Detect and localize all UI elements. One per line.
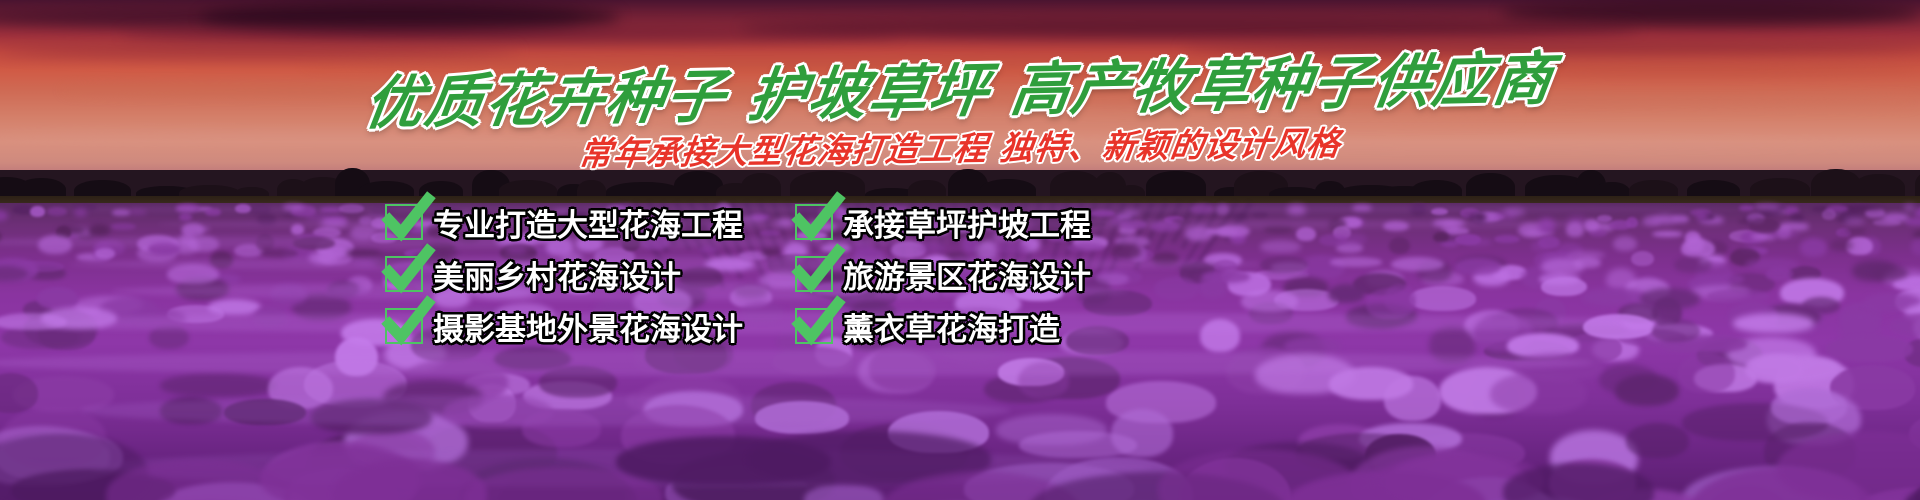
lavender-bush <box>1678 353 1735 393</box>
lavender-bush <box>1198 276 1227 298</box>
lavender-bush <box>110 223 135 230</box>
lavender-bush <box>179 213 192 221</box>
lavender-bush <box>1391 257 1445 271</box>
lavender-bush <box>1260 240 1301 253</box>
checklist-item-label: 摄影基地外景花海设计 <box>433 304 743 349</box>
lavender-bush <box>1464 238 1492 246</box>
lavender-bush <box>1433 232 1449 243</box>
lavender-bush <box>1911 238 1920 255</box>
lavender-bush <box>95 248 115 259</box>
checklist-item-label: 旅游景区花海设计 <box>843 252 1091 297</box>
checklist-item: 承接草坪护坡工程 <box>795 196 1165 248</box>
check-icon <box>385 256 423 292</box>
lavender-bush <box>1855 205 1882 210</box>
lavender-bush <box>1889 313 1920 339</box>
lavender-bush <box>1409 286 1476 311</box>
lavender-bush <box>1846 226 1866 235</box>
lavender-bush <box>1745 354 1804 383</box>
lavender-bush <box>1745 258 1799 270</box>
lavender-bush <box>1749 218 1779 233</box>
checklist-item-label: 承接草坪护坡工程 <box>843 200 1091 245</box>
lavender-bush <box>37 287 78 309</box>
checklist-item-label: 薰衣草花海打造 <box>843 304 1060 349</box>
lavender-bush <box>1631 251 1653 266</box>
subtitle-block: 常年承接大型花海打造工程 独特、新颖的设计风格 <box>0 122 1920 170</box>
lavender-bush <box>160 373 275 397</box>
lavender-bush <box>1844 217 1865 224</box>
lavender-bush <box>1538 236 1560 250</box>
lavender-bush <box>0 210 8 220</box>
check-icon <box>385 204 423 240</box>
page-subtitle: 常年承接大型花海打造工程 独特、新颖的设计风格 <box>576 117 1344 176</box>
lavender-bush <box>1541 277 1587 296</box>
lavender-bush <box>1674 256 1712 273</box>
lavender-bush <box>1830 239 1853 250</box>
checklist-item-label: 美丽乡村花海设计 <box>433 252 681 297</box>
lavender-bush <box>1696 212 1708 220</box>
lavender-bush <box>1241 290 1298 312</box>
lavender-bush <box>1455 258 1501 275</box>
hero-banner: 优质花卉种子 护坡草坪 高产牧草种子供应商 常年承接大型花海打造工程 独特、新颖… <box>0 0 1920 500</box>
check-icon <box>385 308 423 344</box>
lavender-bush <box>1389 237 1410 254</box>
field-highlight <box>80 395 1011 426</box>
lavender-bush <box>1615 374 1679 406</box>
lavender-bush <box>1771 388 1847 425</box>
lavender-bush <box>1707 289 1769 303</box>
lavender-bush <box>1541 258 1583 275</box>
checklist-item: 美丽乡村花海设计 <box>385 248 795 300</box>
check-icon <box>795 204 833 240</box>
checklist-item-label: 专业打造大型花海工程 <box>433 200 743 245</box>
lavender-bush <box>1626 423 1689 458</box>
checklist-item: 薰衣草花海打造 <box>795 300 1165 352</box>
lavender-bush <box>1260 256 1309 273</box>
lavender-bush <box>1338 233 1366 245</box>
lavender-bush <box>1822 209 1836 220</box>
lavender-bush <box>1873 219 1901 226</box>
check-icon <box>795 308 833 344</box>
feature-checklist: 专业打造大型花海工程承接草坪护坡工程美丽乡村花海设计旅游景区花海设计摄影基地外景… <box>385 196 1165 352</box>
lavender-bush <box>1652 231 1683 238</box>
title-block: 优质花卉种子 护坡草坪 高产牧草种子供应商 <box>0 44 1920 128</box>
checklist-item: 摄影基地外景花海设计 <box>385 300 795 352</box>
lavender-bush <box>1613 236 1637 251</box>
lavender-bush <box>1330 257 1382 267</box>
lavender-bush <box>1296 227 1316 241</box>
lavender-bush <box>1494 235 1520 244</box>
lavender-bush <box>1019 431 1136 458</box>
lavender-bush <box>1800 238 1827 256</box>
lavender-bush <box>89 224 110 235</box>
lavender-bush <box>1872 265 1908 280</box>
lavender-bush <box>1733 313 1814 333</box>
checklist-item: 专业打造大型花海工程 <box>385 196 795 248</box>
check-icon <box>795 256 833 292</box>
field-highlight <box>0 350 1593 376</box>
lavender-bush <box>346 248 381 258</box>
lavender-bush <box>1671 215 1688 223</box>
lavender-bush <box>1826 335 1913 362</box>
lavender-bush <box>1328 284 1365 302</box>
checklist-item: 旅游景区花海设计 <box>795 248 1165 300</box>
lavender-bush <box>1685 235 1705 252</box>
